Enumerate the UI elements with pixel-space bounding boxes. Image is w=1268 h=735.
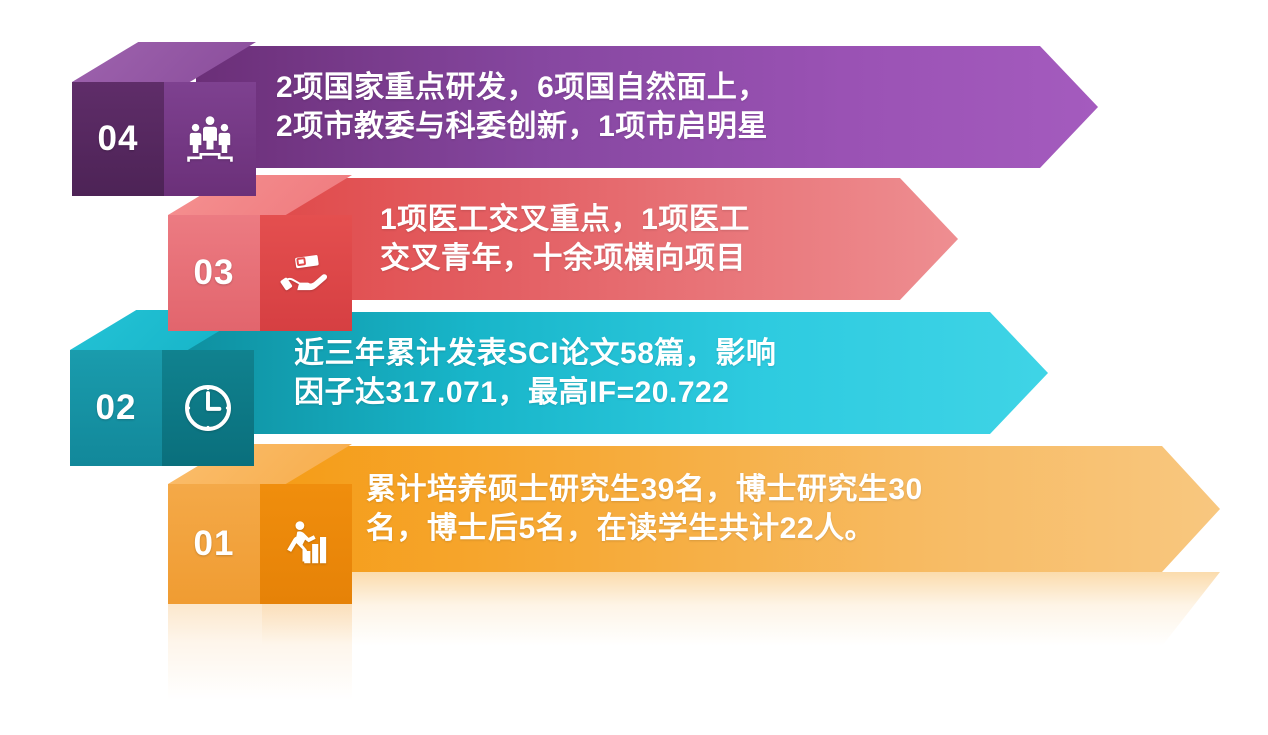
cube-01-reflection [168,604,352,700]
band-04-text: 2项国家重点研发，6项国自然面上， 2项市教委与科委创新，1项市启明星 [276,68,768,146]
infographic-band-03[interactable]: 1项医工交叉重点，1项医工 交叉青年，十余项横向项目 [262,178,958,300]
cube-03-number: 03 [168,215,260,331]
infographic-canvas: 2项国家重点研发，6项国自然面上， 2项市教委与科委创新，1项市启明星 1项医工… [0,0,1268,735]
infographic-band-01[interactable]: 累计培养硕士研究生39名，博士研究生30 名，博士后5名，在读学生共计22人。 [262,446,1220,572]
cube-02-number: 02 [70,350,162,466]
cube-01-number: 01 [168,484,260,604]
hand-money-icon [260,215,352,331]
cube-04-top-face [72,42,256,82]
infographic-band-04[interactable]: 2项国家重点研发，6项国自然面上， 2项市教委与科委创新，1项市启明星 [196,46,1098,168]
cube-03[interactable]: 03 [168,175,352,331]
band-03-text: 1项医工交叉重点，1项医工 交叉青年，十余项横向项目 [380,200,750,278]
cube-04-number: 04 [72,82,164,196]
cube-04[interactable]: 04 [72,42,256,196]
person-growth-chart-icon [260,484,352,604]
cube-01[interactable]: 01 [168,444,352,604]
podium-people-icon [164,82,256,196]
band-02-text: 近三年累计发表SCI论文58篇，影响 因子达317.071，最高IF=20.72… [294,334,776,412]
band-01-reflection [262,572,1220,646]
clock-icon [162,350,254,466]
cube-02[interactable]: 02 [70,310,254,466]
band-01-text: 累计培养硕士研究生39名，博士研究生30 名，博士后5名，在读学生共计22人。 [366,470,923,548]
